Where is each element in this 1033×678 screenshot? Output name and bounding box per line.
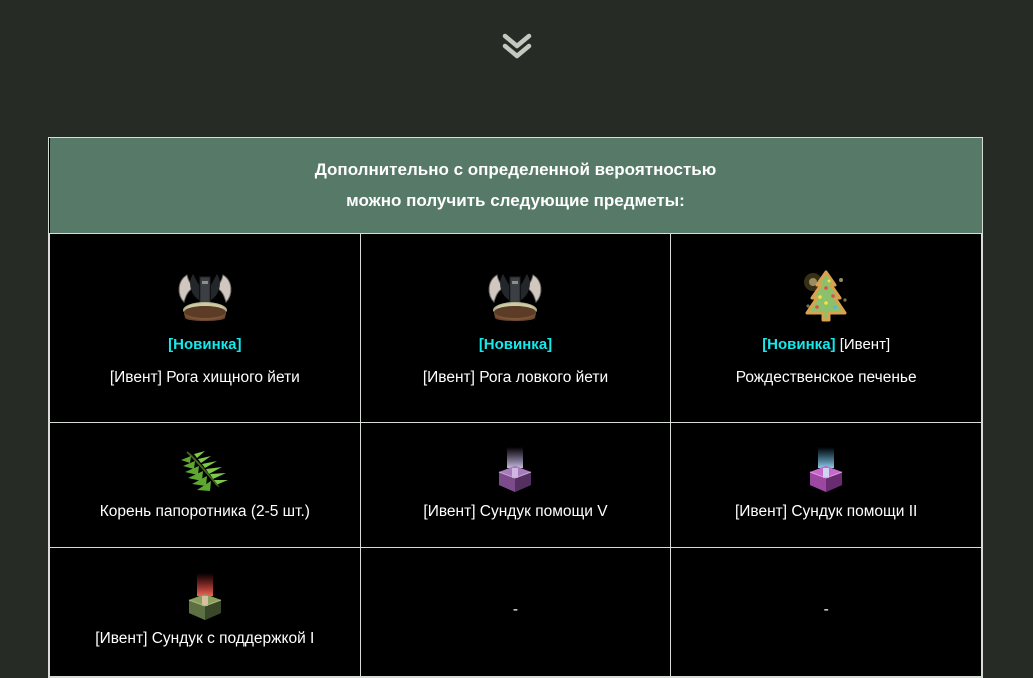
reward-cell[interactable]: [Новинка] [Ивент] Рождественское печенье — [671, 234, 982, 423]
christmas-tree-cookie-icon — [677, 264, 975, 328]
reward-cell[interactable]: [Новинка] [Ивент] Рога хищного йети — [50, 234, 361, 423]
collapse-bar — [0, 0, 1033, 90]
reward-cell-empty[interactable]: - — [671, 548, 982, 677]
new-badge: [Новинка] — [168, 336, 241, 353]
item-name: [Ивент] Сундук помощи II — [677, 502, 975, 522]
purple-help-chest-icon — [367, 444, 665, 500]
reward-cell[interactable]: [Новинка] [Ивент] Рога ловкого йети — [360, 234, 671, 423]
item-name: Корень папоротника (2-5 шт.) — [56, 502, 354, 522]
table-header: Дополнительно с определенной вероятность… — [50, 138, 982, 234]
item-name: [Ивент] Сундук с поддержкой I — [56, 629, 354, 649]
new-badge: [Новинка] — [762, 336, 835, 353]
yeti-horns-trophy-icon — [367, 264, 665, 328]
magenta-help-chest-icon — [677, 444, 975, 500]
item-name: [Ивент] Рога ловкого йети — [367, 368, 665, 388]
item-name: Рождественское печенье — [677, 368, 975, 388]
item-name: [Ивент] Сундук помощи V — [367, 502, 665, 522]
table-row: [Новинка] [Ивент] Рога хищного йети — [50, 234, 982, 423]
table-header-line-1: Дополнительно с определенной вероятность… — [60, 154, 972, 185]
green-support-chest-icon — [56, 571, 354, 627]
table-row: [Ивент] Сундук с поддержкой I - - — [50, 548, 982, 677]
new-badge: [Новинка] — [479, 336, 552, 353]
badge-line: [Новинка] — [367, 334, 665, 356]
badge-line: [Новинка] [Ивент] — [677, 334, 975, 356]
reward-cell-empty[interactable]: - — [360, 548, 671, 677]
empty-placeholder: - — [367, 600, 665, 620]
table-row: Корень папоротника (2-5 шт.) — [50, 423, 982, 548]
fern-root-icon — [56, 444, 354, 500]
reward-cell[interactable]: [Ивент] Сундук с поддержкой I — [50, 548, 361, 677]
empty-placeholder: - — [677, 600, 975, 620]
reward-cell[interactable]: [Ивент] Сундук помощи II — [671, 423, 982, 548]
yeti-horns-trophy-icon — [56, 264, 354, 328]
badge-line: [Новинка] — [56, 334, 354, 356]
item-name: [Ивент] Рога хищного йети — [56, 368, 354, 388]
event-tag: [Ивент] — [840, 336, 890, 353]
table-header-line-2: можно получить следующие предметы: — [60, 185, 972, 216]
reward-table: Дополнительно с определенной вероятность… — [48, 137, 983, 678]
reward-cell[interactable]: Корень папоротника (2-5 шт.) — [50, 423, 361, 548]
double-chevron-down-icon[interactable] — [494, 23, 540, 67]
reward-cell[interactable]: [Ивент] Сундук помощи V — [360, 423, 671, 548]
